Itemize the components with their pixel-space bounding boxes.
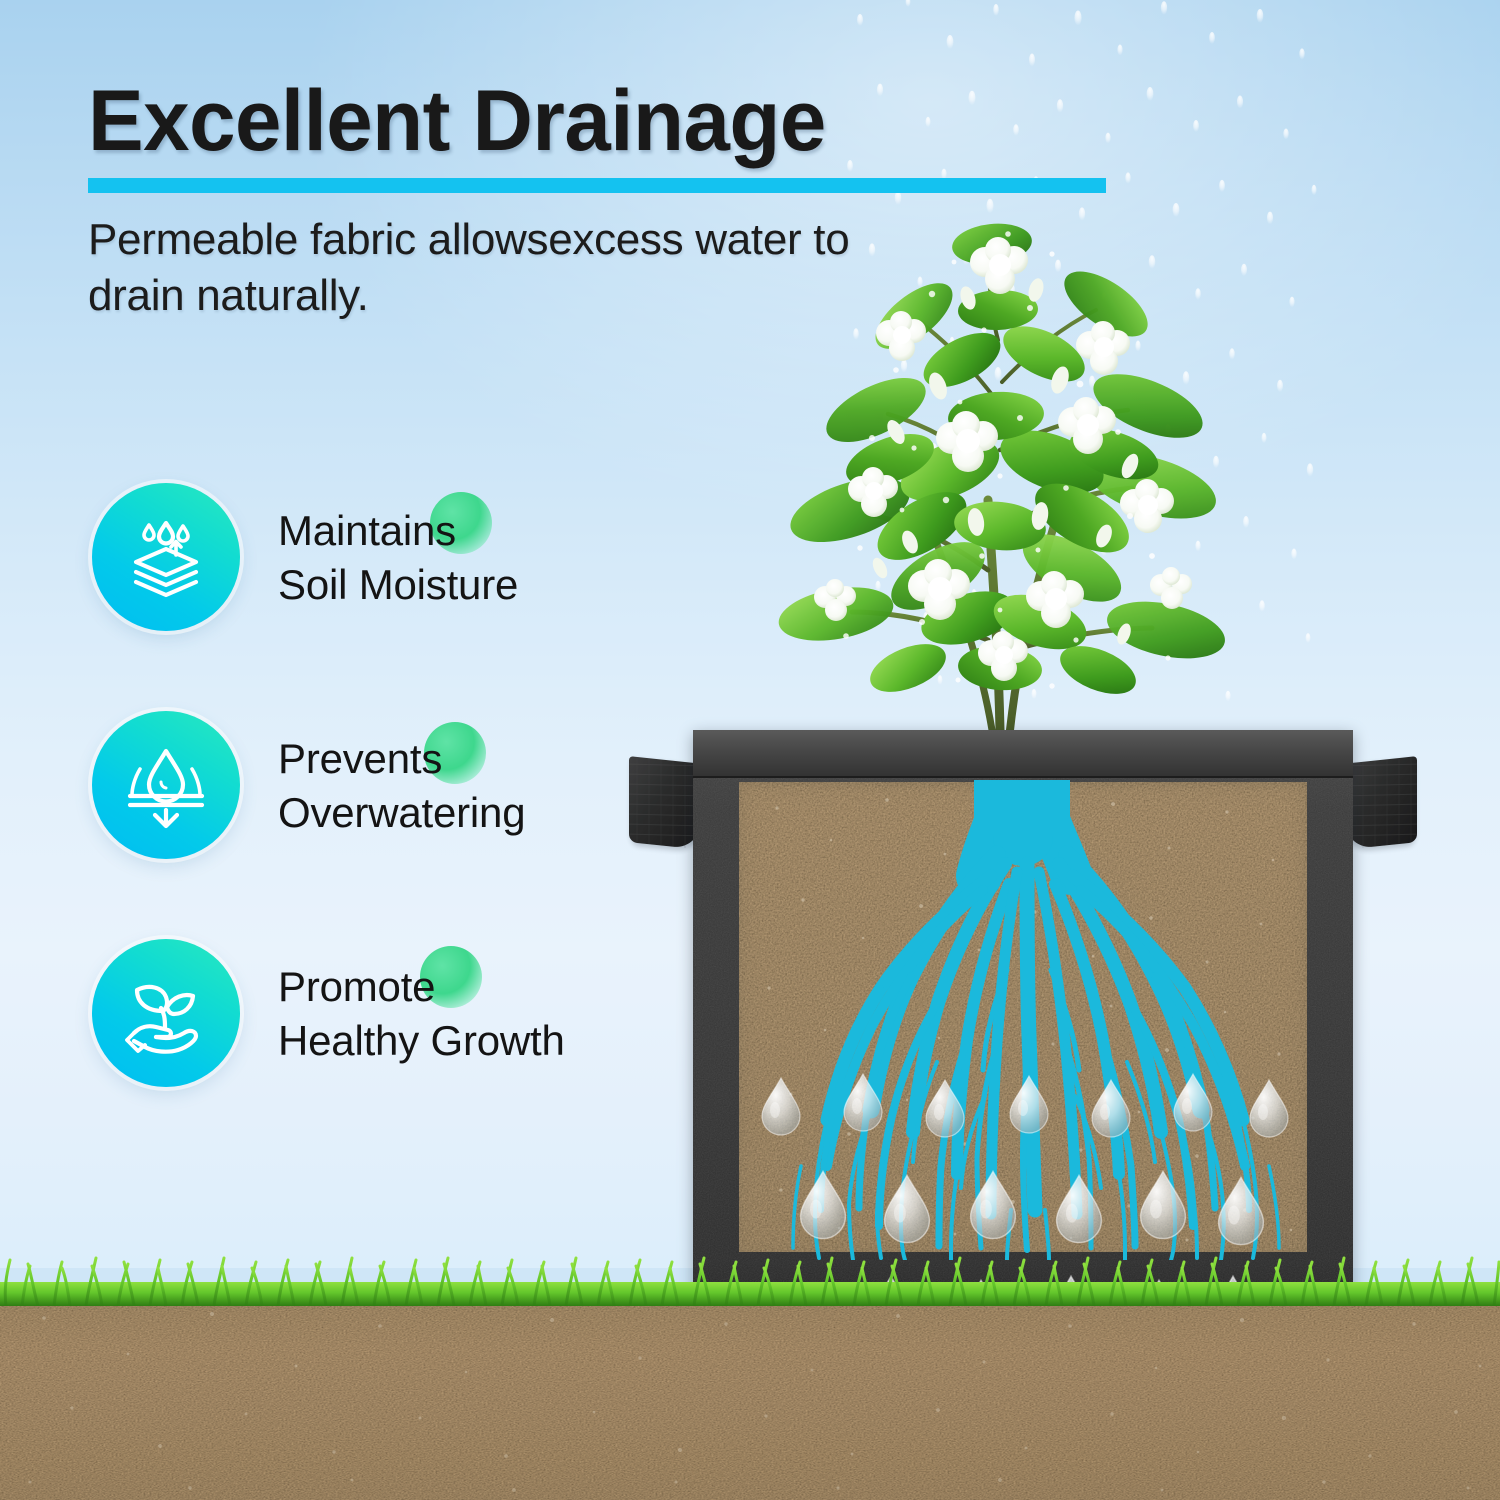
water-drops-on-layers-icon [92,483,240,631]
grass-strip [0,1248,1500,1306]
fabric-grow-bag [693,730,1353,1308]
headline-block: Excellent Drainage [88,78,1148,166]
feature-text-block: Promote Healthy Growth [278,958,565,1068]
feature-list: Maintains Soil Moisture [92,482,632,1088]
ground-soil-cross-section [0,1296,1500,1500]
feature-label: Maintains Soil Moisture [278,504,518,612]
feature-item-promote-healthy-growth: Promote Healthy Growth [92,938,632,1088]
pot-soil [739,782,1307,1252]
hand-holding-sprout-icon [92,939,240,1087]
pot-handle-left [629,756,703,850]
title-underline-bar [88,178,1106,193]
pot-rim [693,730,1353,778]
droplet-through-membrane-icon [92,711,240,859]
pot-handle-right [1343,756,1417,850]
feature-text-block: Maintains Soil Moisture [278,502,518,612]
feature-text-block: Prevents Overwatering [278,730,525,840]
page-subtitle: Permeable fabric allowsexcess water to d… [88,212,868,325]
infographic-canvas: Excellent Drainage Permeable fabric allo… [0,0,1500,1500]
feature-item-maintains-soil-moisture: Maintains Soil Moisture [92,482,632,632]
page-title: Excellent Drainage [88,78,1116,166]
feature-item-prevents-overwatering: Prevents Overwatering [92,710,632,860]
feature-label: Promote Healthy Growth [278,960,565,1068]
feature-label: Prevents Overwatering [278,732,525,840]
